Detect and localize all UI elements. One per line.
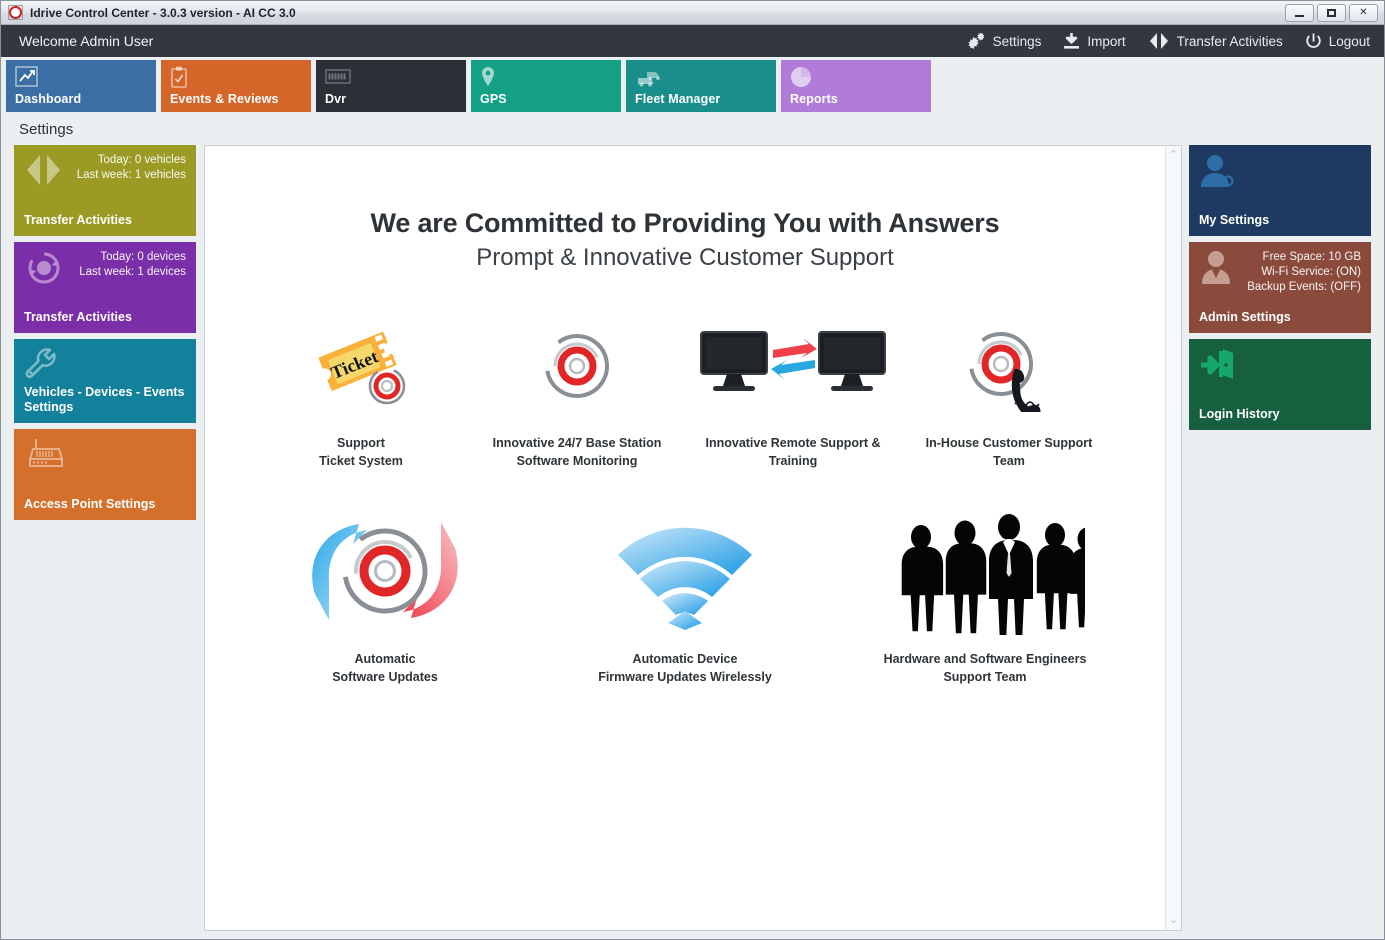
caption-line: Ticket System xyxy=(253,452,469,470)
caption-line: Support xyxy=(253,434,469,452)
page-subheadline: Prompt & Innovative Customer Support xyxy=(205,244,1165,272)
left-tile-column: Today: 0 vehicles Last week: 1 vehicles … xyxy=(6,145,196,931)
nav-tab-dvr[interactable]: Dvr xyxy=(316,60,466,112)
feature-remote-support-training: Innovative Remote Support & Training xyxy=(685,312,901,470)
nav-tab-gps-label: GPS xyxy=(480,92,507,106)
feature-automatic-software-updates: Automatic Software Updates xyxy=(235,506,535,686)
chart-arrow-icon xyxy=(15,65,156,89)
header-actions: Settings Import Transf xyxy=(966,32,1370,50)
gears-icon xyxy=(966,32,986,50)
header-settings-button[interactable]: Settings xyxy=(966,32,1042,50)
nav-tab-gps[interactable]: GPS xyxy=(471,60,621,112)
tile-stat-line: Today: 0 devices xyxy=(24,250,186,265)
vehicles-icon xyxy=(635,65,776,89)
feature-in-house-support-team: In-House Customer Support Team xyxy=(901,312,1117,470)
header-transfer-activities-button[interactable]: Transfer Activities xyxy=(1148,32,1283,50)
tile-stat-line: Last week: 1 vehicles xyxy=(24,168,186,183)
tile-transfer-activities-vehicles[interactable]: Today: 0 vehicles Last week: 1 vehicles … xyxy=(14,145,196,236)
feature-caption: Automatic Software Updates xyxy=(235,650,535,686)
welcome-label: Welcome Admin User xyxy=(19,33,966,49)
features-grid: Ticket Support xyxy=(205,272,1165,686)
feature-base-station-monitoring: Innovative 24/7 Base Station Software Mo… xyxy=(469,312,685,470)
router-icon xyxy=(24,437,68,476)
feature-support-ticket-system: Ticket Support xyxy=(253,312,469,470)
caption-line: Automatic xyxy=(235,650,535,668)
caption-line: Software Monitoring xyxy=(469,452,685,470)
features-row-2: Automatic Software Updates xyxy=(227,506,1143,686)
caption-line: Firmware Updates Wirelessly xyxy=(535,668,835,686)
nav-tab-reports[interactable]: Reports xyxy=(781,60,931,112)
headline-block: We are Committed to Providing You with A… xyxy=(205,146,1165,272)
caption-line: Innovative 24/7 Base Station xyxy=(469,434,685,452)
scroll-up-arrow[interactable]: ⌃ xyxy=(1169,150,1178,161)
app-header: Welcome Admin User Settings xyxy=(1,25,1384,57)
feature-caption: Automatic Device Firmware Updates Wirele… xyxy=(535,650,835,686)
feature-caption: Hardware and Software Engineers Support … xyxy=(835,650,1135,686)
header-settings-label: Settings xyxy=(993,34,1042,49)
tile-title: Login History xyxy=(1199,407,1361,422)
main-nav: Dashboard Events & Reviews xyxy=(1,57,1384,113)
header-import-button[interactable]: Import xyxy=(1063,33,1125,50)
window-title: Idrive Control Center - 3.0.3 version - … xyxy=(30,6,1285,20)
header-import-label: Import xyxy=(1087,34,1125,49)
tile-stats: Today: 0 devices Last week: 1 devices xyxy=(24,250,186,280)
window-controls: ✕ xyxy=(1285,4,1378,22)
caption-line: Automatic Device xyxy=(535,650,835,668)
feature-caption: Innovative Remote Support & Training xyxy=(685,434,901,470)
nav-tab-reports-label: Reports xyxy=(790,92,838,106)
tile-transfer-activities-devices[interactable]: Today: 0 devices Last week: 1 devices Tr… xyxy=(14,242,196,333)
content-panel: We are Committed to Providing You with A… xyxy=(204,145,1165,931)
pie-chart-icon xyxy=(790,65,931,89)
caption-line: In-House Customer Support xyxy=(901,434,1117,452)
title-bar: Idrive Control Center - 3.0.3 version - … xyxy=(1,1,1384,25)
page-body: Today: 0 vehicles Last week: 1 vehicles … xyxy=(1,145,1384,939)
feature-caption: Support Ticket System xyxy=(253,434,469,470)
page-headline: We are Committed to Providing You with A… xyxy=(205,208,1165,239)
target-monitor-icon xyxy=(469,312,685,420)
breadcrumb-label: Settings xyxy=(19,121,73,138)
feature-caption: Innovative 24/7 Base Station Software Mo… xyxy=(469,434,685,470)
wrench-icon xyxy=(24,347,62,386)
nav-tab-dvr-label: Dvr xyxy=(325,92,346,106)
caption-line: Innovative Remote Support & xyxy=(685,434,901,452)
scroll-down-arrow[interactable]: ⌄ xyxy=(1169,915,1178,926)
nav-tab-fleet-manager-label: Fleet Manager xyxy=(635,92,720,106)
download-icon xyxy=(1063,33,1080,50)
caption-line: Team xyxy=(901,452,1117,470)
remote-screens-icon xyxy=(685,312,901,420)
minimize-button[interactable] xyxy=(1285,4,1314,22)
tile-access-point-settings[interactable]: Access Point Settings xyxy=(14,429,196,520)
header-logout-button[interactable]: Logout xyxy=(1305,33,1370,50)
tile-stat-line: Today: 0 vehicles xyxy=(24,153,186,168)
support-ticket-icon: Ticket xyxy=(253,312,469,420)
tile-title: Transfer Activities xyxy=(24,310,186,325)
dvr-icon xyxy=(325,65,466,89)
breadcrumb: Settings xyxy=(1,113,1384,145)
right-tile-column: My Settings Free Space: 10 GB Wi-Fi Serv… xyxy=(1189,145,1379,931)
tile-title: My Settings xyxy=(1199,213,1361,228)
caption-line: Hardware and Software Engineers xyxy=(835,650,1135,668)
map-pin-icon xyxy=(480,65,621,89)
team-silhouette-icon xyxy=(835,506,1135,636)
caption-line: Software Updates xyxy=(235,668,535,686)
content-scrollbar[interactable]: ⌃ ⌄ xyxy=(1165,145,1182,931)
main-content-area: We are Committed to Providing You with A… xyxy=(204,145,1182,931)
nav-tab-fleet-manager[interactable]: Fleet Manager xyxy=(626,60,776,112)
tile-my-settings[interactable]: My Settings xyxy=(1189,145,1371,236)
app-window: Idrive Control Center - 3.0.3 version - … xyxy=(0,0,1385,940)
tile-stat-line: Free Space: 10 GB xyxy=(1199,250,1361,265)
caption-line: Training xyxy=(685,452,901,470)
tile-admin-settings[interactable]: Free Space: 10 GB Wi-Fi Service: (ON) Ba… xyxy=(1189,242,1371,333)
app-logo-icon xyxy=(8,5,23,20)
feature-automatic-firmware-updates: Automatic Device Firmware Updates Wirele… xyxy=(535,506,835,686)
tile-title: Admin Settings xyxy=(1199,310,1361,325)
user-gear-icon xyxy=(1199,153,1237,194)
maximize-button[interactable] xyxy=(1317,4,1346,22)
login-arrow-icon xyxy=(1199,347,1237,386)
nav-tab-events-reviews-label: Events & Reviews xyxy=(170,92,279,106)
nav-tab-dashboard[interactable]: Dashboard xyxy=(6,60,156,112)
tile-stats: Free Space: 10 GB Wi-Fi Service: (ON) Ba… xyxy=(1199,250,1361,295)
feature-caption: In-House Customer Support Team xyxy=(901,434,1117,470)
auto-update-icon xyxy=(235,506,535,636)
tile-title: Vehicles - Devices - Events Settings xyxy=(24,385,186,415)
tile-stat-line: Wi-Fi Service: (ON) xyxy=(1199,265,1361,280)
caption-line: Support Team xyxy=(835,668,1135,686)
wifi-icon xyxy=(535,506,835,636)
tile-login-history[interactable]: Login History xyxy=(1189,339,1371,430)
power-icon xyxy=(1305,33,1322,50)
header-transfer-label: Transfer Activities xyxy=(1177,34,1283,49)
tile-title: Access Point Settings xyxy=(24,497,186,512)
feature-hardware-software-engineers: Hardware and Software Engineers Support … xyxy=(835,506,1135,686)
features-row-1: Ticket Support xyxy=(227,312,1143,470)
tile-stats: Today: 0 vehicles Last week: 1 vehicles xyxy=(24,153,186,183)
clipboard-check-icon xyxy=(170,65,311,89)
target-phone-icon xyxy=(901,312,1117,420)
nav-tab-events-reviews[interactable]: Events & Reviews xyxy=(161,60,311,112)
nav-tab-dashboard-label: Dashboard xyxy=(15,92,81,106)
tile-title: Transfer Activities xyxy=(24,213,186,228)
header-logout-label: Logout xyxy=(1329,34,1370,49)
close-button[interactable]: ✕ xyxy=(1349,4,1378,22)
transfer-arrows-icon xyxy=(1148,32,1170,50)
tile-stat-line: Backup Events: (OFF) xyxy=(1199,280,1361,295)
tile-stat-line: Last week: 1 devices xyxy=(24,265,186,280)
tile-vehicles-devices-events-settings[interactable]: Vehicles - Devices - Events Settings xyxy=(14,339,196,423)
